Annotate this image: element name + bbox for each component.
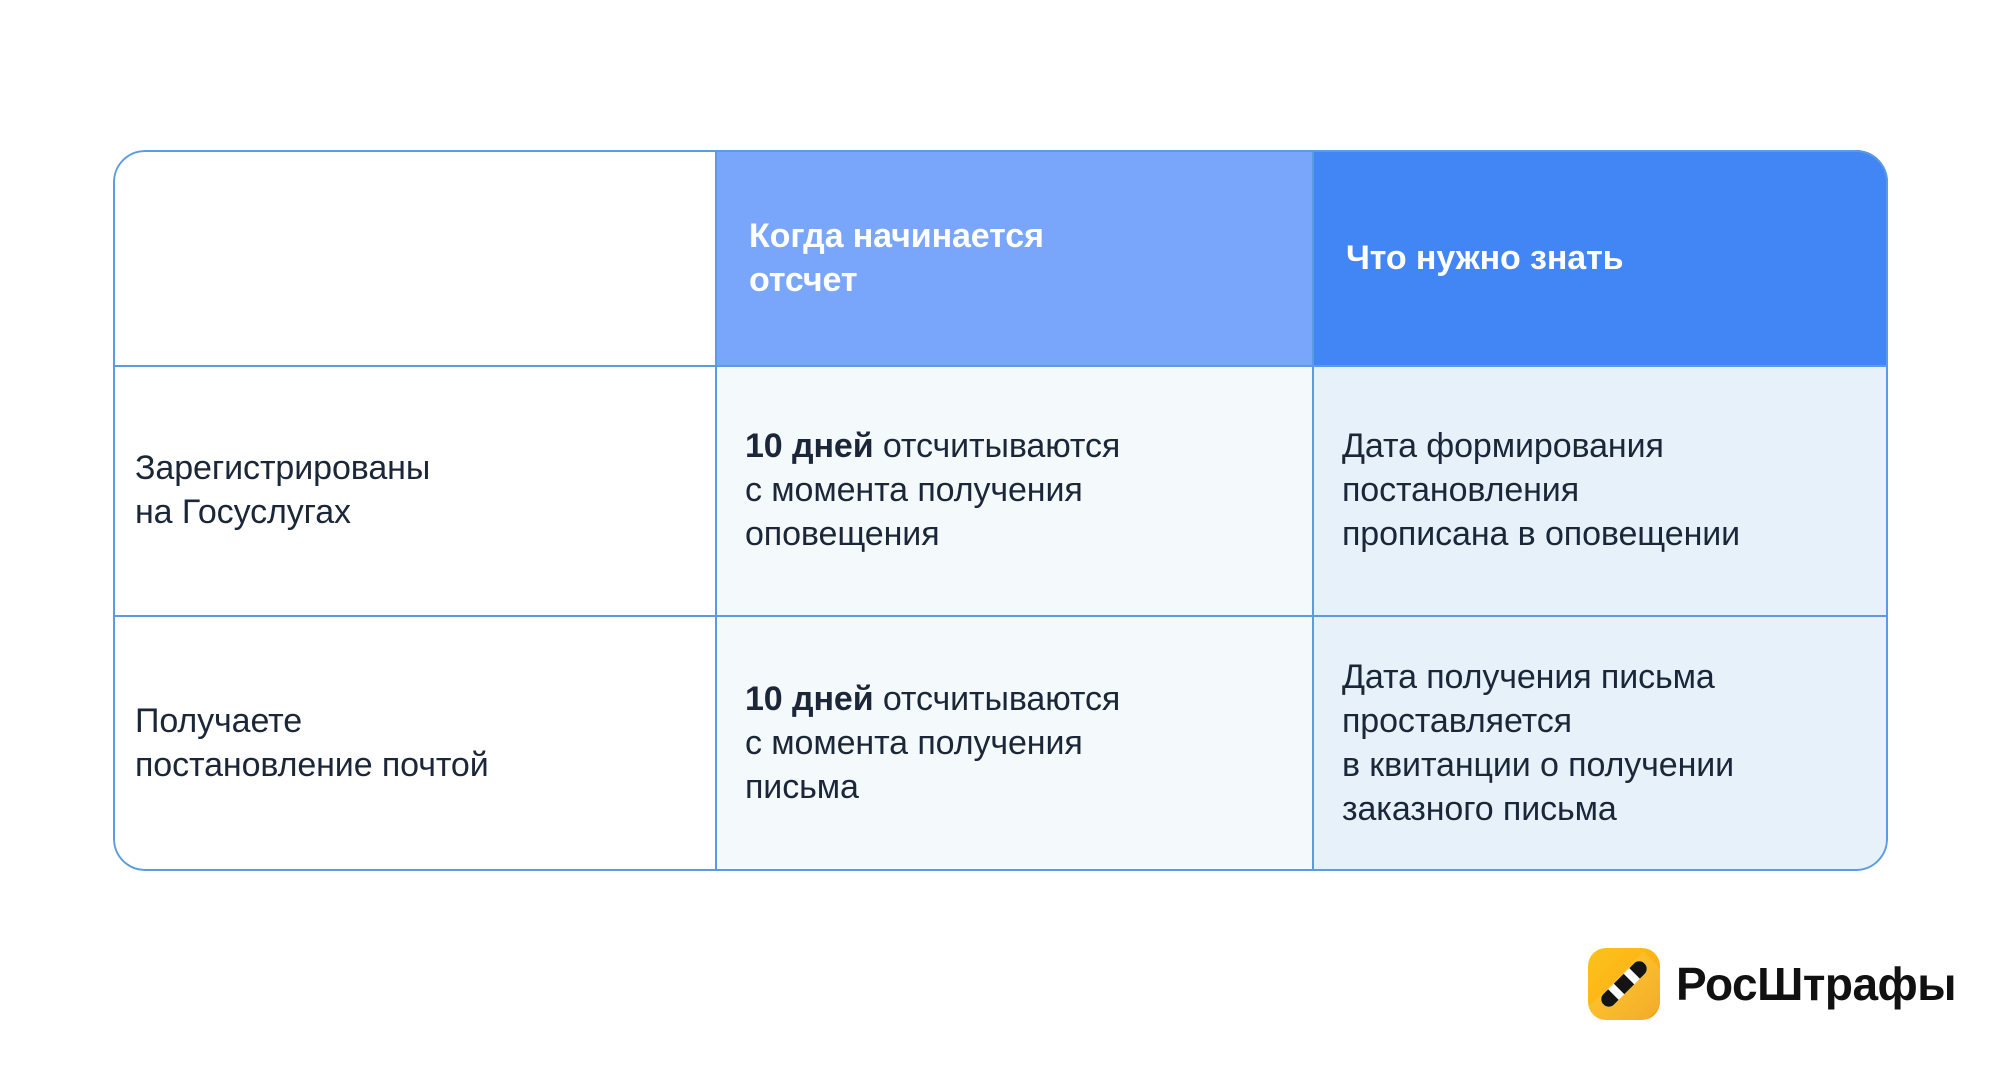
table-row: Дата получения письма проставляется в кв… (1312, 615, 1888, 871)
table-row: Зарегистрированы на Госуслугах (113, 365, 715, 615)
cell-countdown-1: 10 дней отсчитываются с момента получени… (715, 424, 1312, 557)
brand-logo[interactable]: РосШтрафы (1588, 948, 1956, 1020)
table-header-cell-need-to-know-overlay: Что нужно знать (1312, 150, 1888, 366)
cell-situation-1: Зарегистрированы на Госуслугах (113, 446, 715, 534)
comparison-table: Когда начинается отсчет Что нужно знать … (113, 150, 1888, 871)
table-row: 10 дней отсчитываются с момента получени… (715, 615, 1312, 871)
cell-countdown-1-emphasis: 10 дней (745, 427, 874, 465)
brand-logo-text: РосШтрафы (1676, 961, 1956, 1007)
police-baton-icon (1588, 948, 1660, 1020)
table-row: Получаете постановление почтой (113, 615, 715, 871)
table-header-cell-empty (113, 150, 715, 365)
table-row: Дата формирования постановления прописан… (1312, 365, 1888, 615)
table-row: 10 дней отсчитываются с момента получени… (715, 365, 1312, 615)
cell-countdown-2: 10 дней отсчитываются с момента получени… (715, 677, 1312, 810)
page-root: Когда начинается отсчет Что нужно знать … (0, 0, 2000, 1087)
table-header-label-countdown-visible: Когда начинается отсчет (715, 214, 1312, 302)
table-header-cell-countdown-overlay: Когда начинается отсчет (715, 150, 1312, 366)
cell-countdown-2-emphasis: 10 дней (745, 680, 874, 718)
table-header-label-need-to-know-visible: Что нужно знать (1312, 236, 1888, 280)
cell-situation-2: Получаете постановление почтой (113, 699, 715, 787)
cell-need-to-know-1: Дата формирования постановления прописан… (1312, 424, 1888, 557)
cell-need-to-know-2: Дата получения письма проставляется в кв… (1312, 655, 1888, 832)
